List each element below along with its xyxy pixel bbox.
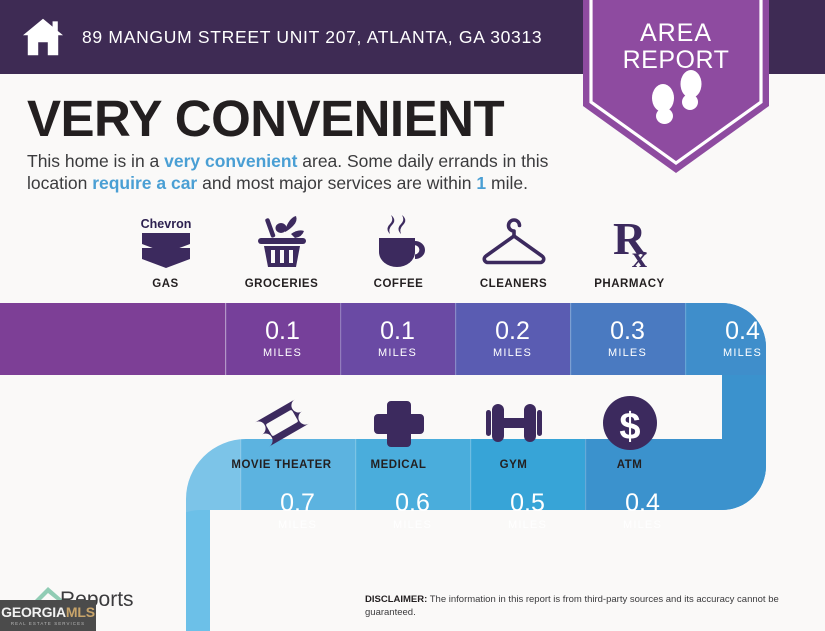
desc-highlight-2: require a car — [92, 173, 197, 193]
disclaimer-text: The information in this report is from t… — [365, 594, 779, 618]
category-label: GYM — [456, 459, 571, 471]
distance-value: 0.1 — [380, 319, 415, 344]
mls-logo-mls: MLS — [66, 604, 95, 620]
distance-value: 0.2 — [495, 319, 530, 344]
category-cleaners: CLEANERS — [456, 214, 571, 290]
distance-atm: 0.4 MILES — [585, 478, 700, 543]
category-label: MEDICAL — [341, 459, 456, 471]
distance-value: 0.3 — [610, 319, 645, 344]
svg-text:Chevron: Chevron — [140, 217, 191, 231]
desc-part-3: and most major services are within — [197, 173, 476, 193]
distance-unit: MILES — [378, 347, 417, 359]
page-title: VERY CONVENIENT — [27, 93, 504, 144]
property-address: 89 MANGUM STREET UNIT 207, ATLANTA, GA 3… — [82, 27, 542, 48]
category-label: MOVIE THEATER — [224, 459, 339, 471]
mls-logo-georgia: GEORGIA — [1, 604, 66, 620]
category-movie-theater: MOVIE THEATER — [224, 395, 339, 471]
hanger-icon — [456, 214, 571, 270]
distance-value: 0.1 — [265, 319, 300, 344]
badge-shape — [583, 0, 769, 173]
georgia-mls-logo: GEORGIAMLS REAL ESTATE SERVICES — [0, 600, 96, 631]
distance-unit: MILES — [393, 519, 432, 531]
desc-part-4: mile. — [486, 173, 528, 193]
area-report-page: 89 MANGUM STREET UNIT 207, ATLANTA, GA 3… — [0, 0, 825, 631]
category-gas: Chevron GAS — [108, 214, 223, 290]
category-groceries: GROCERIES — [224, 214, 339, 290]
distance-unit: MILES — [608, 347, 647, 359]
distance-unit: MILES — [623, 519, 662, 531]
medical-cross-icon — [341, 395, 456, 451]
category-label: ATM — [572, 459, 687, 471]
mls-logo-tagline: REAL ESTATE SERVICES — [11, 621, 85, 626]
movie-ticket-icon — [224, 395, 339, 451]
rx-icon: R x — [572, 214, 687, 270]
desc-highlight-1: very convenient — [164, 151, 297, 171]
svg-text:x: x — [632, 241, 647, 270]
distance-value: 0.6 — [395, 491, 430, 516]
distance-value: 0.4 — [725, 319, 760, 344]
mls-logo-primary: GEORGIAMLS — [1, 605, 95, 619]
category-pharmacy: R x PHARMACY — [572, 214, 687, 290]
distance-value: 0.5 — [510, 491, 545, 516]
dollar-circle-icon: $ — [572, 395, 687, 451]
distance-value: 0.4 — [625, 491, 660, 516]
desc-part-1: This home is in a — [27, 151, 164, 171]
distance-groceries: 0.1 MILES — [340, 303, 455, 375]
distance-gas: 0.1 MILES — [225, 303, 340, 375]
disclaimer-label: DISCLAIMER: — [365, 594, 427, 605]
category-label: GROCERIES — [224, 278, 339, 290]
svg-text:$: $ — [619, 406, 640, 448]
distance-coffee: 0.2 MILES — [455, 303, 570, 375]
distance-pharmacy: 0.4 MILES — [685, 303, 800, 375]
category-label: PHARMACY — [572, 278, 687, 290]
distance-unit: MILES — [278, 519, 317, 531]
area-report-badge: AREA REPORT — [583, 0, 769, 173]
distance-gym: 0.5 MILES — [470, 478, 585, 543]
coffee-cup-icon — [341, 214, 456, 270]
category-label: GAS — [108, 278, 223, 290]
category-atm: $ ATM — [572, 395, 687, 471]
category-gym: GYM — [456, 395, 571, 471]
grocery-basket-icon — [224, 214, 339, 270]
disclaimer: DISCLAIMER: The information in this repo… — [365, 594, 795, 620]
home-icon — [22, 17, 64, 57]
distance-unit: MILES — [493, 347, 532, 359]
category-label: COFFEE — [341, 278, 456, 290]
distance-medical: 0.6 MILES — [355, 478, 470, 543]
distance-movie-theater: 0.7 MILES — [240, 478, 355, 543]
distance-unit: MILES — [508, 519, 547, 531]
distance-unit: MILES — [263, 347, 302, 359]
category-medical: MEDICAL — [341, 395, 456, 471]
desc-highlight-3: 1 — [476, 173, 486, 193]
category-coffee: COFFEE — [341, 214, 456, 290]
chevron-gas-icon: Chevron — [108, 214, 223, 270]
distance-value: 0.7 — [280, 491, 315, 516]
dumbbell-icon — [456, 395, 571, 451]
distance-cleaners: 0.3 MILES — [570, 303, 685, 375]
description-text: This home is in a very convenient area. … — [27, 150, 592, 195]
category-label: CLEANERS — [456, 278, 571, 290]
distance-unit: MILES — [723, 347, 762, 359]
